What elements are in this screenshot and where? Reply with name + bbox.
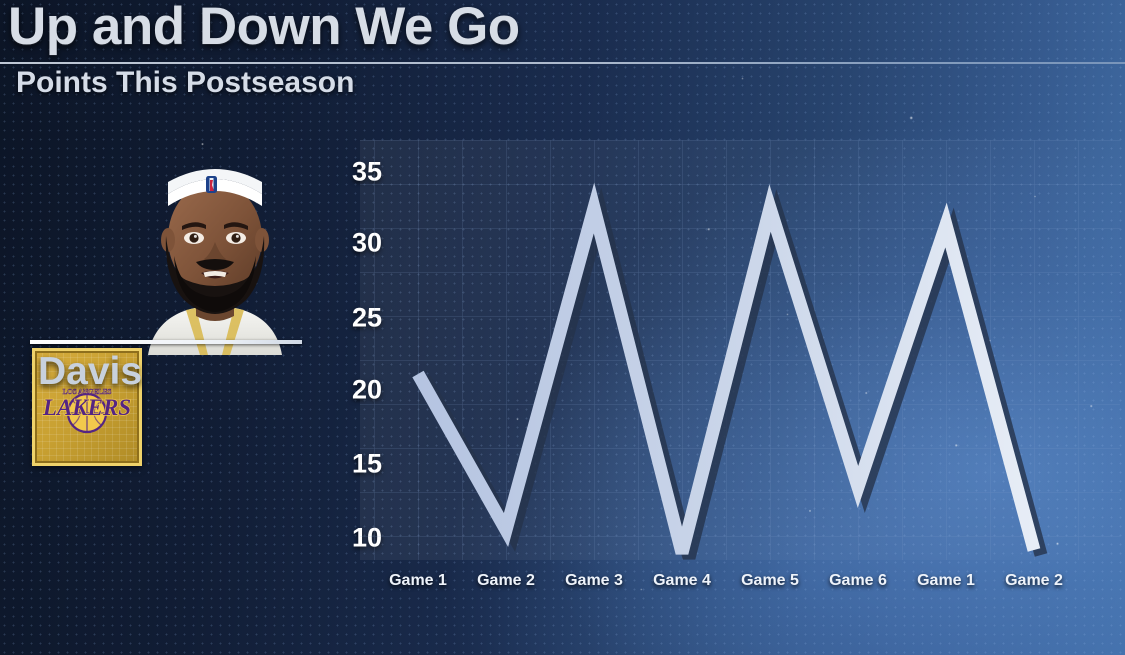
player-headshot (140, 160, 290, 355)
line-chart: 35 30 25 20 15 10 (330, 140, 1120, 600)
x-tick-label: Game 2 (477, 572, 535, 590)
x-tick-label: Game 5 (741, 572, 799, 590)
page-subtitle: Points This Postseason (16, 66, 354, 100)
x-tick-label: Game 1 (917, 572, 975, 590)
player-name-divider (30, 340, 302, 344)
x-tick-label: Game 2 (1005, 572, 1063, 590)
player-panel: LOS ANGELES LAKERS Davis (0, 150, 330, 410)
title-divider (0, 62, 1125, 64)
player-name: Davis (38, 350, 142, 394)
chart-plot-area (330, 140, 1120, 570)
broadcast-graphic: Up and Down We Go Points This Postseason (0, 0, 1125, 655)
x-tick-label: Game 1 (389, 572, 447, 590)
x-tick-label: Game 4 (653, 572, 711, 590)
page-title: Up and Down We Go (8, 0, 520, 57)
x-tick-label: Game 6 (829, 572, 887, 590)
svg-text:LAKERS: LAKERS (42, 395, 131, 420)
x-tick-label: Game 3 (565, 572, 623, 590)
